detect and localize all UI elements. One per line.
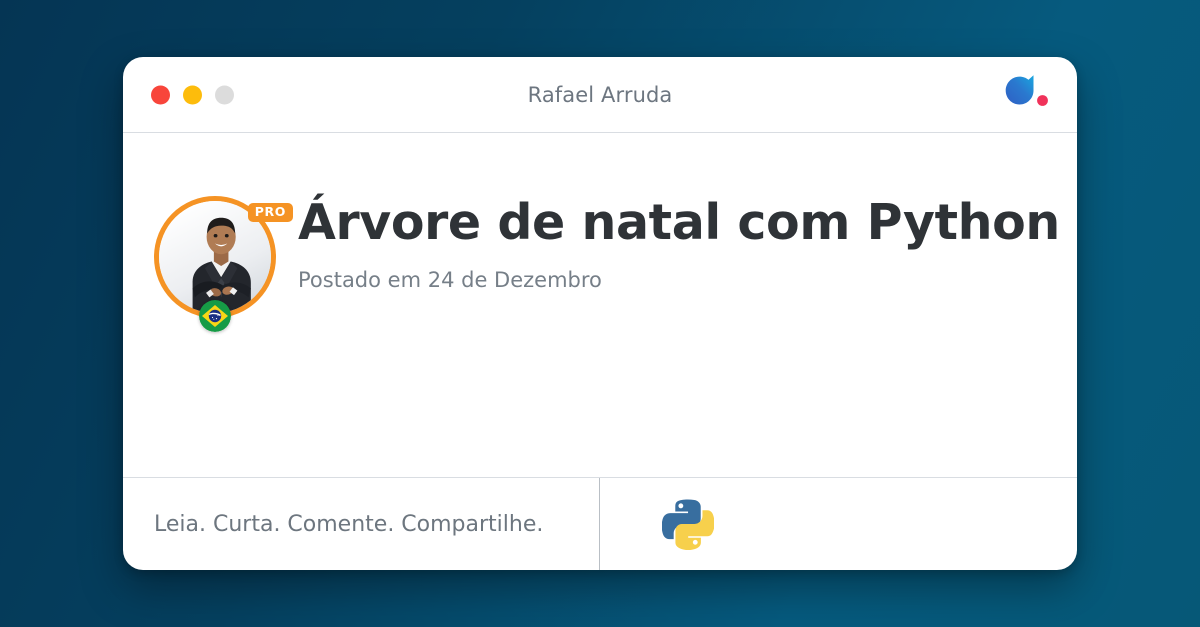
window-title-bar: Rafael Arruda bbox=[123, 57, 1077, 133]
window-title: Rafael Arruda bbox=[123, 83, 1077, 107]
card-footer: Leia. Curta. Comente. Compartilhe. bbox=[123, 478, 1077, 570]
footer-tagline-cell: Leia. Curta. Comente. Compartilhe. bbox=[123, 478, 600, 570]
pro-badge: PRO bbox=[248, 203, 293, 222]
maximize-button[interactable] bbox=[215, 85, 234, 104]
python-logo-icon bbox=[662, 498, 714, 550]
author-avatar[interactable]: PRO bbox=[154, 196, 276, 318]
page-title: Árvore de natal com Python bbox=[298, 197, 1060, 249]
minimize-button[interactable] bbox=[183, 85, 202, 104]
footer-logo-cell bbox=[600, 478, 1077, 570]
browser-window-card: Rafael Arruda bbox=[123, 57, 1077, 570]
post-date: Postado em 24 de Dezembro bbox=[298, 268, 1060, 292]
close-button[interactable] bbox=[151, 85, 170, 104]
footer-tagline: Leia. Curta. Comente. Compartilhe. bbox=[154, 512, 543, 537]
brand-logo-icon[interactable] bbox=[999, 73, 1055, 117]
brazil-flag-icon bbox=[199, 300, 231, 332]
post-text-block: Árvore de natal com Python Postado em 24… bbox=[298, 196, 1060, 477]
post-body: PRO Árvore de natal com Python Postado e… bbox=[123, 133, 1077, 478]
traffic-light-controls bbox=[151, 85, 234, 104]
